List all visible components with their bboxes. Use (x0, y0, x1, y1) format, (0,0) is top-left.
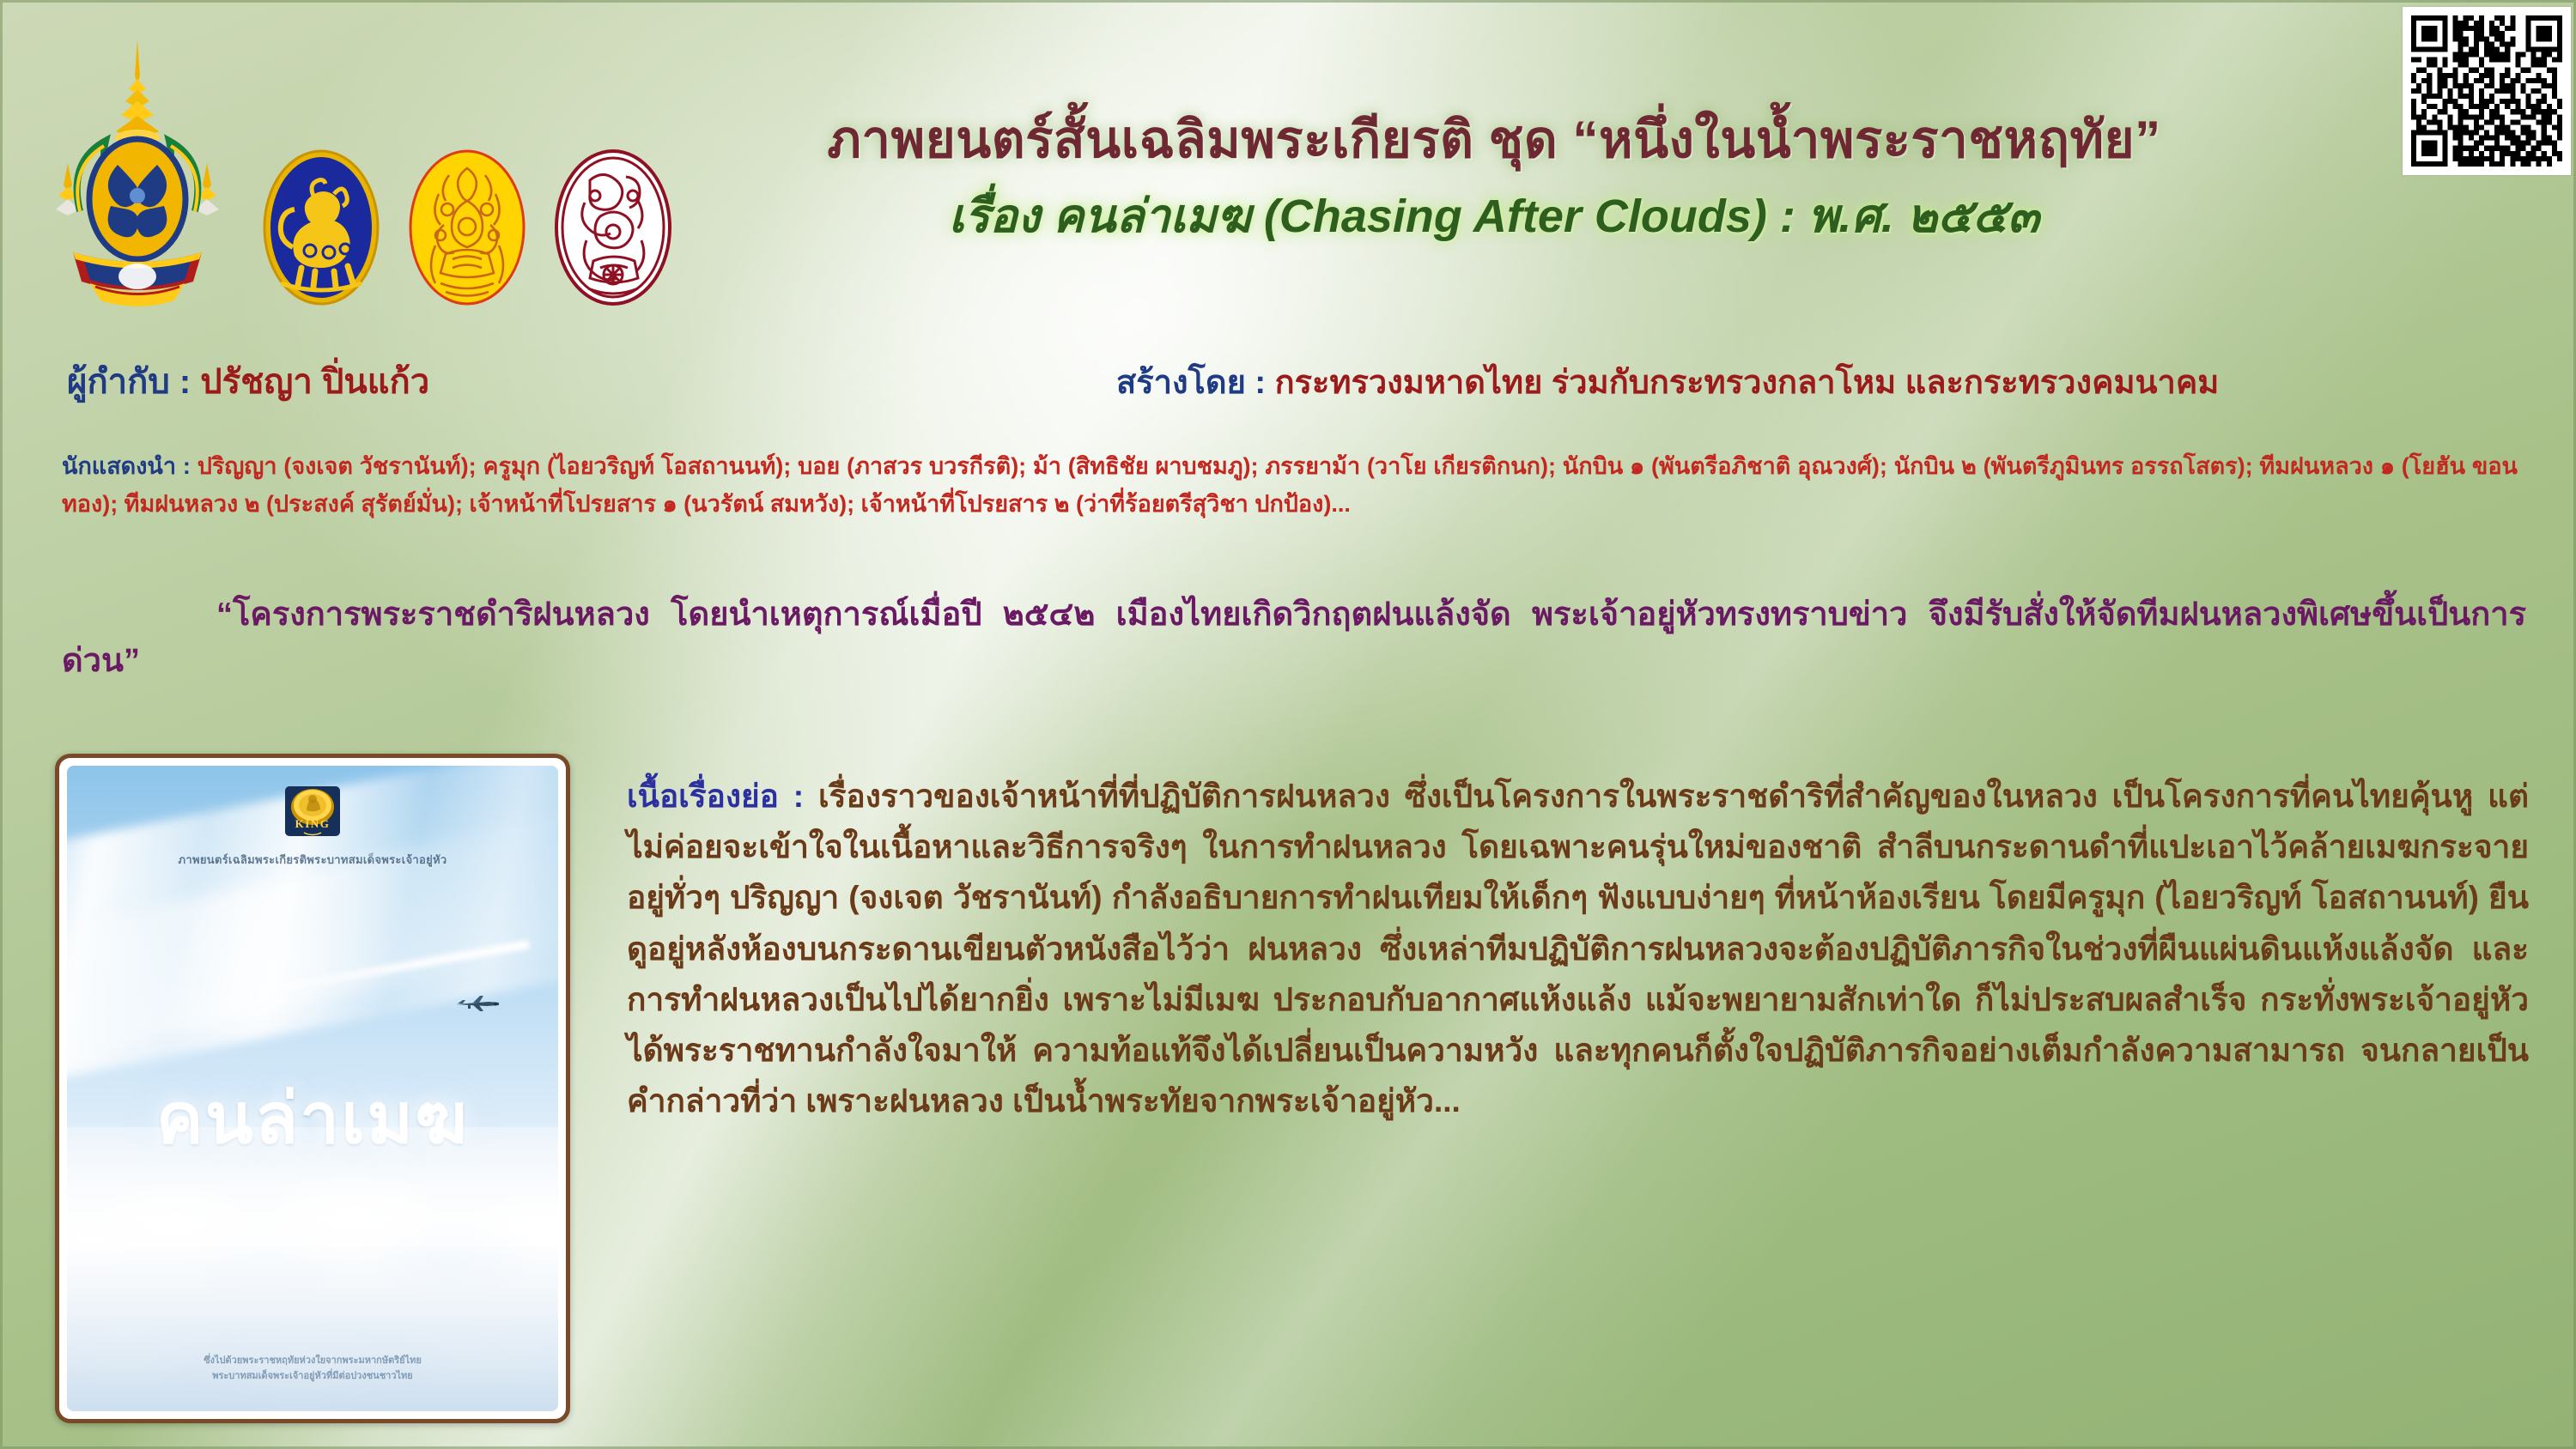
director-line: ผู้กำกับ : ปรัชญา ปิ่นแก้ว (67, 354, 429, 409)
poster-foot-line-2: พระบาทสมเด็จพระเจ้าอยู่หัวที่มีต่อปวงชนช… (67, 1369, 558, 1385)
cast-names: ปริญญา (จงเจต วัชรานันท์); ครูมุก (ไอยวร… (62, 453, 2518, 517)
synopsis-body: เรื่องราวของเจ้าหน้าที่ที่ปฏิบัติการฝนหล… (627, 779, 2529, 1119)
credit-line-director-producer: ผู้กำกับ : ปรัชญา ปิ่นแก้ว สร้างโดย : กร… (0, 354, 2576, 407)
cast-label: นักแสดงนำ : (62, 453, 197, 479)
poster-foot-caption: ซึ่งไปด้วยพระราชหฤทัยห่วงใยจากพระมหากษัต… (67, 1354, 558, 1384)
synopsis-label: เนื้อเรื่องย่อ : (627, 779, 818, 814)
cast-line: นักแสดงนำ : ปริญญา (จงเจต วัชรานันท์); ค… (62, 448, 2518, 523)
royal-cypher-emblem (39, 34, 236, 309)
producer-line: สร้างโดย : กระทรวงมหาดไทย ร่วมกับกระทรวง… (1116, 355, 2219, 408)
director-name: ปรัชญา ปิ่นแก้ว (200, 363, 429, 401)
title-block: ภาพยนตร์สั้นเฉลิมพระเกียรติ ชุด “หนึ่งใน… (756, 110, 2233, 243)
qr-code[interactable] (2403, 7, 2571, 175)
ministry-of-defence-seal (406, 146, 528, 309)
svg-text:KING: KING (295, 817, 331, 830)
ministry-of-transport-seal (552, 146, 674, 309)
cloud-shadow-gradient (67, 1243, 558, 1411)
credits-section: ผู้กำกับ : ปรัชญา ปิ่นแก้ว สร้างโดย : กร… (0, 354, 2576, 407)
ministry-of-interior-seal (260, 146, 382, 309)
page-subtitle: เรื่อง คนล่าเมฆ (Chasing After Clouds) :… (756, 190, 2233, 243)
airplane-icon (454, 995, 504, 1012)
page-title: ภาพยนตร์สั้นเฉลิมพระเกียรติ ชุด “หนึ่งใน… (756, 110, 2233, 169)
header: ภาพยนตร์สั้นเฉลิมพระเกียรติ ชุด “หนึ่งใน… (0, 0, 2576, 343)
movie-poster[interactable]: KING ภาพยนตร์เฉลิมพระเกียรติพระบาทสมเด็จ… (55, 754, 570, 1423)
poster-foot-line-1: ซึ่งไปด้วยพระราชหฤทัยห่วงใยจากพระมหากษัต… (67, 1354, 558, 1369)
producer-label: สร้างโดย : (1116, 365, 1275, 401)
producer-name: กระทรวงมหาดไทย ร่วมกับกระทรวงกลาโหม และก… (1275, 365, 2220, 401)
director-label: ผู้กำกับ : (67, 363, 200, 401)
royal-quote: “โครงการพระราชดำริฝนหลวง โดยนำเหตุการณ์เ… (62, 592, 2526, 685)
synopsis-text: เนื้อเรื่องย่อ : เรื่องราวของเจ้าหน้าที่… (627, 771, 2529, 1126)
poster-top-caption: ภาพยนตร์เฉลิมพระเกียรติพระบาทสมเด็จพระเจ… (67, 851, 558, 869)
king-coin-logo: KING (282, 781, 343, 843)
poster-artwork: KING ภาพยนตร์เฉลิมพระเกียรติพระบาทสมเด็จ… (67, 766, 558, 1411)
emblem-row (39, 34, 674, 309)
